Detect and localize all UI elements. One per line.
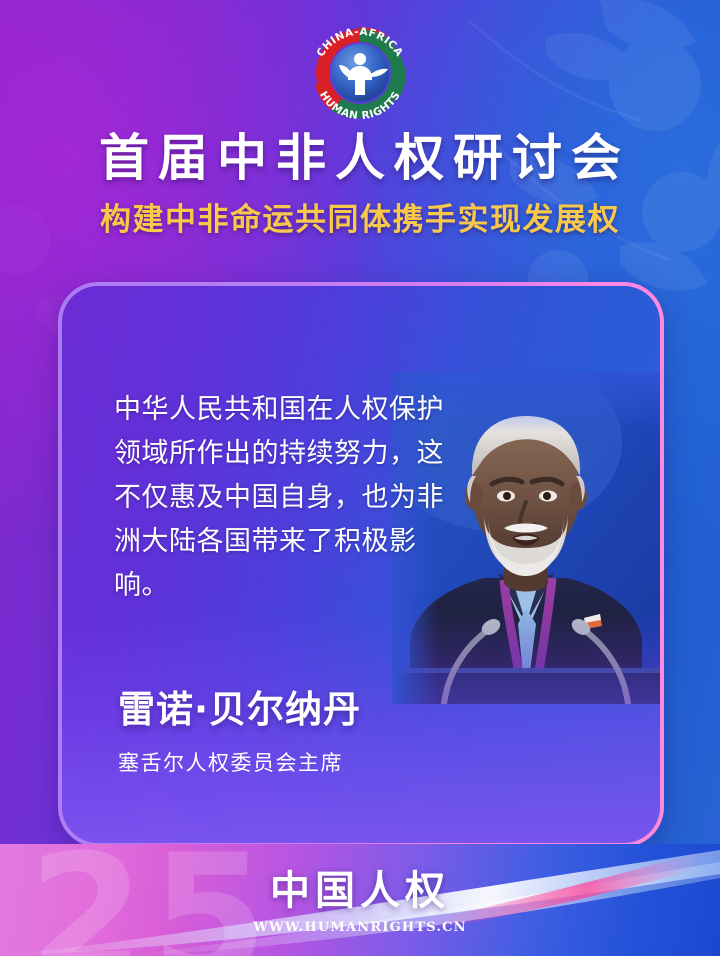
speaker-block: 雷诺·贝尔纳丹 塞舌尔人权委员会主席 [118, 679, 361, 777]
poster-root: CHINA-AFRICA HUMAN RIGHTS 首届中非人权研讨会 构建中非… [0, 0, 720, 956]
footer-url-text: WWW.HUMANRIGHTS.CN [0, 920, 720, 935]
speaker-name: 雷诺·贝尔纳丹 [118, 679, 361, 733]
page-title: 首届中非人权研讨会 [0, 130, 720, 186]
title-block: 首届中非人权研讨会 构建中非命运共同体携手实现发展权 [0, 130, 720, 239]
footer-logo-text: 中国人权 [0, 858, 720, 916]
quote-card: 中华人民共和国在人权保护领域所作出的持续努力，这不仅惠及中国自身，也为非洲大陆各… [58, 282, 664, 847]
footer-bar: 25 中国人权 WWW.HUMANRIGHTS.C [0, 844, 720, 956]
page-subtitle: 构建中非命运共同体携手实现发展权 [0, 194, 720, 239]
china-africa-human-rights-emblem-icon: CHINA-AFRICA HUMAN RIGHTS [301, 22, 419, 124]
footer-logo: 中国人权 WWW.HUMANRIGHTS.CN [0, 858, 720, 935]
speaker-role: 塞舌尔人权委员会主席 [118, 747, 361, 777]
quote-text: 中华人民共和国在人权保护领域所作出的持续努力，这不仅惠及中国自身，也为非洲大陆各… [114, 388, 462, 608]
quote-card-inner: 中华人民共和国在人权保护领域所作出的持续努力，这不仅惠及中国自身，也为非洲大陆各… [62, 286, 660, 843]
emblem-wrapper: CHINA-AFRICA HUMAN RIGHTS [0, 22, 720, 124]
